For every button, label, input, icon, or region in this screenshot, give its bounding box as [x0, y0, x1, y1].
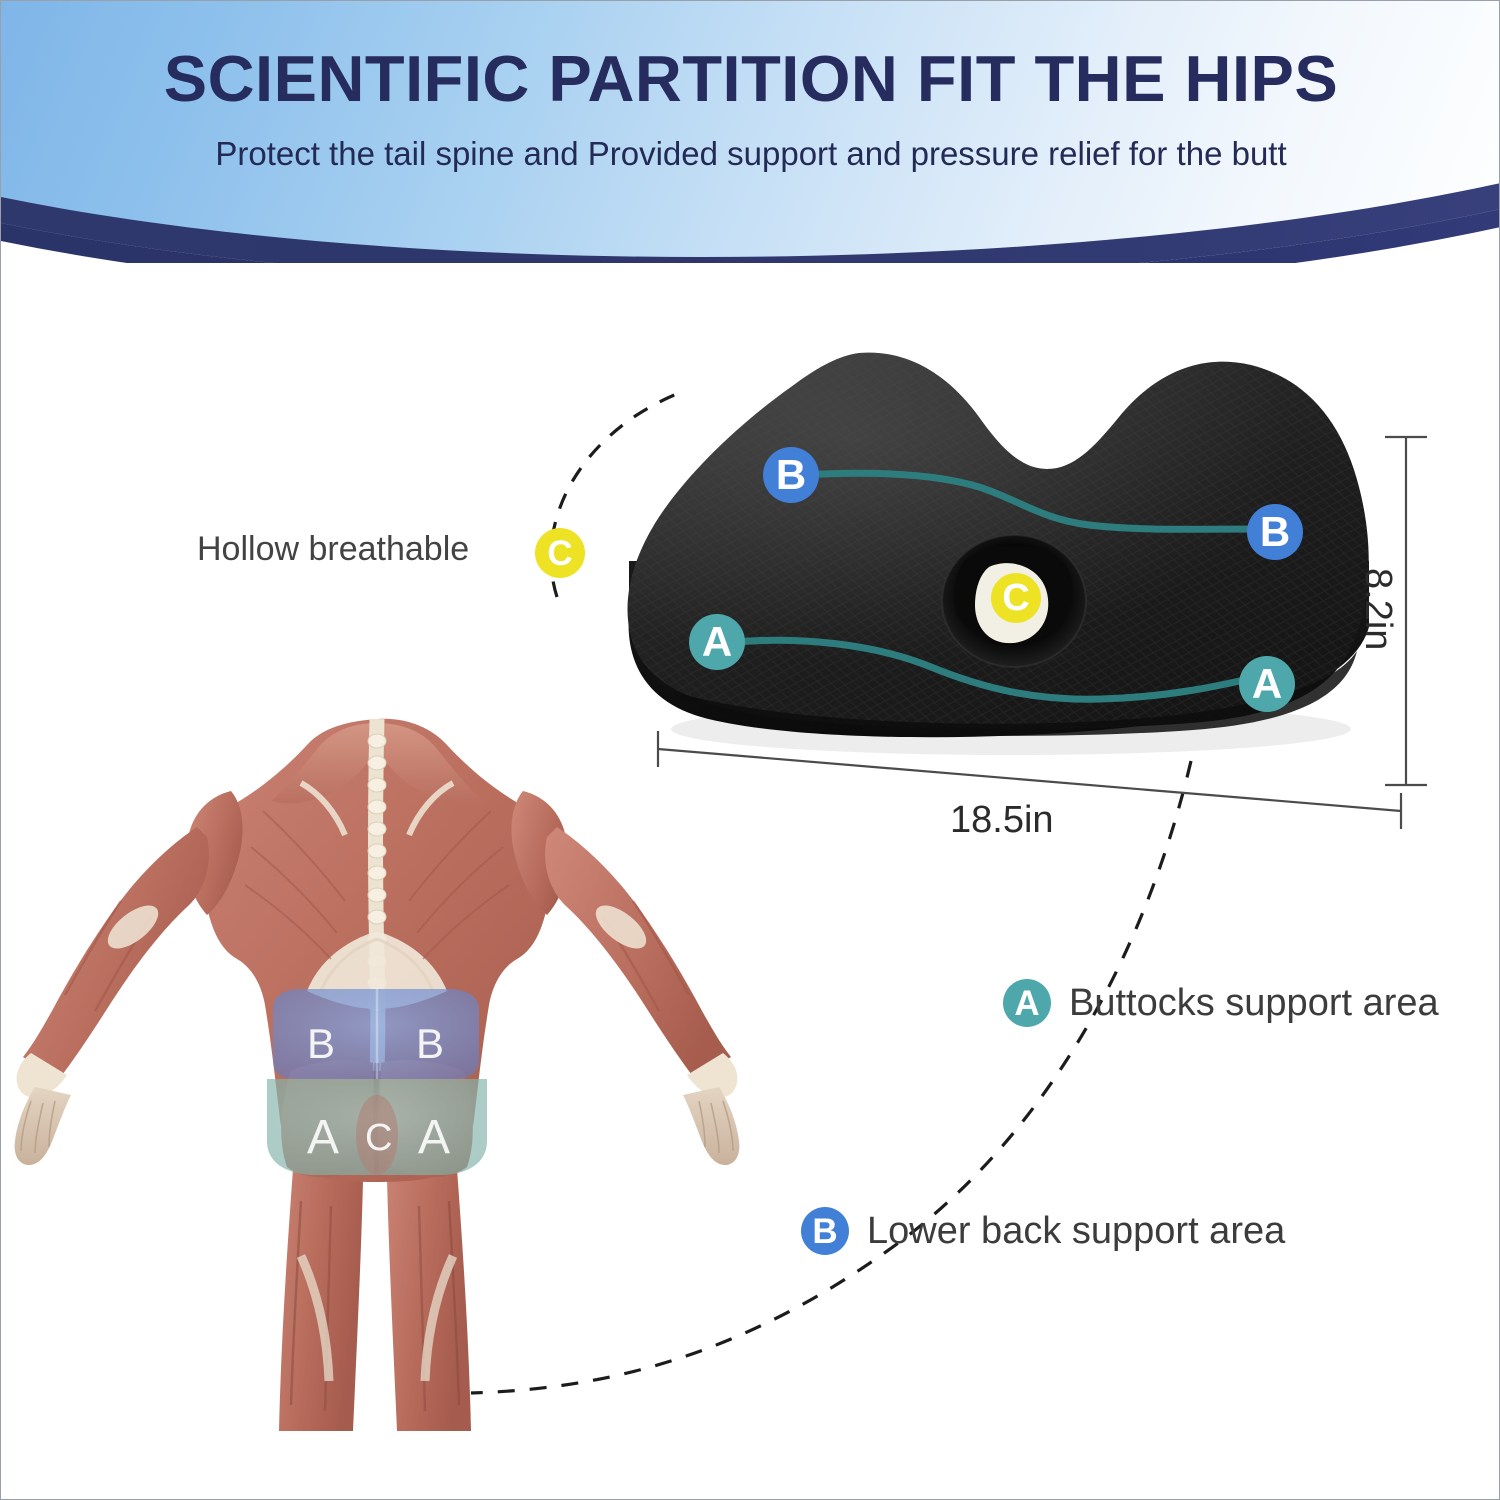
anatomy-figure [15, 719, 740, 1431]
legend-label-b: Lower back support area [867, 1210, 1285, 1253]
anatomy-letter-b-left: B [307, 1023, 335, 1065]
cushion-marker-b-right: B [1247, 504, 1303, 560]
cushion-marker-b-left: B [763, 447, 819, 503]
right-arm [545, 827, 731, 1079]
cushion-marker-c-center: C [991, 573, 1041, 623]
cushion-marker-a-left: A [689, 614, 745, 670]
right-hand [683, 1087, 739, 1165]
legend-item-a: A Buttocks support area [1003, 979, 1439, 1027]
legend-badge-b: B [801, 1207, 849, 1255]
anatomy-letter-b-right: B [416, 1023, 444, 1065]
anatomy-letter-a-right: A [418, 1114, 450, 1162]
left-hand [15, 1087, 71, 1165]
legend-item-b: B Lower back support area [801, 1207, 1285, 1255]
hollow-breathable-badge-c: C [535, 528, 585, 578]
infographic-page: SCIENTIFIC PARTITION FIT THE HIPS Protec… [0, 0, 1500, 1500]
legend-badge-a: A [1003, 979, 1051, 1027]
anatomy-letter-c-center: C [365, 1119, 392, 1157]
dimension-height-label: 8.2in [1356, 568, 1399, 650]
illustration-canvas [1, 1, 1500, 1500]
legend-label-a: Buttocks support area [1069, 982, 1439, 1025]
dimension-width-label: 18.5in [950, 799, 1054, 842]
anatomy-letter-a-left: A [307, 1114, 339, 1162]
left-arm [23, 827, 209, 1079]
cushion-marker-a-right: A [1239, 656, 1295, 712]
hollow-breathable-label: Hollow breathable [197, 530, 469, 569]
